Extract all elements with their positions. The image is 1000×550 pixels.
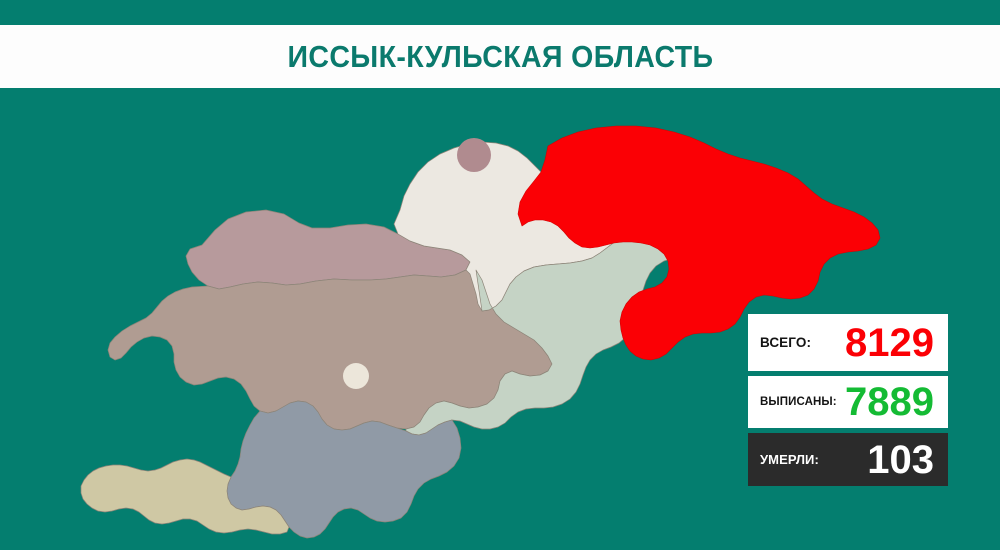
infographic-root: ИССЫК-КУЛЬСКАЯ ОБЛАСТЬ [0,0,1000,550]
osh-marker-icon [343,363,369,389]
stat-label-recovered: ВЫПИСАНЫ: [760,396,837,408]
stat-value-died: 103 [867,440,934,480]
stat-value-total: 8129 [845,323,934,363]
statistics-panel: ВСЕГО: 8129 ВЫПИСАНЫ: 7889 УМЕРЛИ: 103 [748,314,948,486]
stat-row-recovered: ВЫПИСАНЫ: 7889 [748,376,948,428]
title-band: ИССЫК-КУЛЬСКАЯ ОБЛАСТЬ [0,25,1000,88]
stat-row-died: УМЕРЛИ: 103 [748,433,948,486]
stat-label-total: ВСЕГО: [760,335,811,350]
stat-label-died: УМЕРЛИ: [760,452,819,467]
bishkek-marker-icon [457,138,491,172]
top-accent-bar [0,0,1000,25]
stat-value-recovered: 7889 [845,382,934,422]
map-stage: ВСЕГО: 8129 ВЫПИСАНЫ: 7889 УМЕРЛИ: 103 [0,88,1000,550]
stat-row-total: ВСЕГО: 8129 [748,314,948,371]
page-title: ИССЫК-КУЛЬСКАЯ ОБЛАСТЬ [287,39,713,75]
